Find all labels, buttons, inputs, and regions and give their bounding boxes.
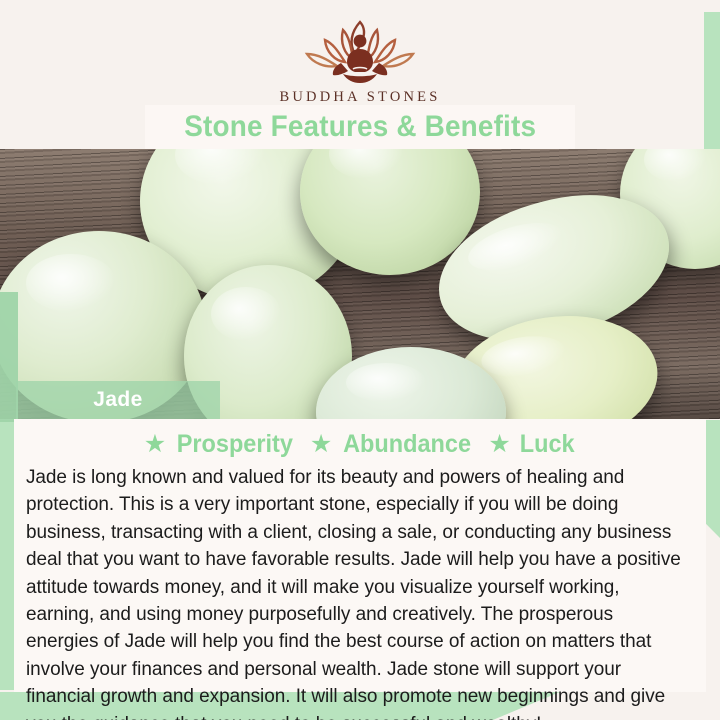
content-panel: ★ Prosperity ★ Abundance ★ Luck Jade is …	[14, 419, 706, 692]
benefit-label: Luck	[520, 430, 575, 459]
benefit-item-abundance: ★ Abundance	[310, 430, 476, 459]
benefit-label: Prosperity	[177, 430, 293, 459]
decor-green-strip-text-right	[706, 420, 720, 538]
header-banner: Stone Features & Benefits	[145, 105, 575, 149]
benefits-row: ★ Prosperity ★ Abundance ★ Luck	[22, 429, 698, 459]
benefit-label: Abundance	[343, 430, 471, 459]
star-icon: ★	[488, 432, 510, 457]
star-icon: ★	[310, 432, 332, 457]
star-icon: ★	[144, 432, 166, 457]
infographic-page: BUDDHA STONES Stone Features & Benefits …	[0, 0, 720, 720]
brand-logo: BUDDHA STONES	[0, 14, 720, 106]
stone-description: Jade is long known and valued for its be…	[22, 464, 688, 720]
page-title: Stone Features & Benefits	[184, 110, 536, 144]
stone-name-label: Jade	[93, 388, 142, 412]
stone-name-band: Jade	[16, 381, 220, 419]
brand-name: BUDDHA STONES	[0, 89, 720, 106]
decor-green-strip-text-left	[0, 420, 14, 690]
benefit-item-prosperity: ★ Prosperity	[144, 430, 297, 459]
benefit-item-luck: ★ Luck	[488, 430, 576, 459]
lotus-meditation-icon	[285, 14, 435, 86]
stone-photo	[0, 149, 720, 419]
